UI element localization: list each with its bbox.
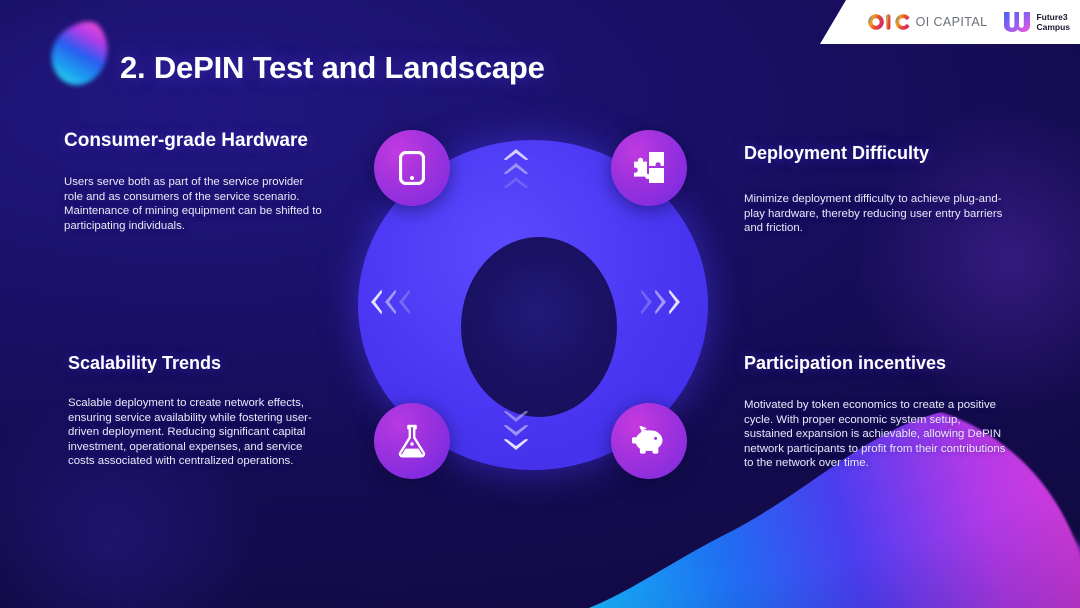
oic-capital-wordmark: OI CAPITAL	[916, 15, 988, 29]
block-heading: Consumer-grade Hardware	[64, 129, 322, 153]
future3-campus-logo: Future3 Campus	[1003, 11, 1070, 33]
diagram-node-scalability-trends[interactable]	[374, 403, 450, 479]
block-body: Minimize deployment difficulty to achiev…	[744, 192, 1006, 236]
future3-line2: Campus	[1036, 22, 1070, 32]
smartphone-icon	[399, 151, 425, 185]
chevron-up-icon	[502, 148, 530, 189]
future3-mark-icon	[1003, 11, 1031, 33]
block-heading: Deployment Difficulty	[744, 142, 1006, 164]
page-title: 2. DePIN Test and Landscape	[120, 50, 545, 86]
diagram-node-deployment-difficulty[interactable]	[611, 130, 687, 206]
block-deployment-difficulty: Deployment Difficulty Minimize deploymen…	[744, 142, 1006, 236]
cycle-ring-center	[461, 237, 617, 417]
diagram-node-consumer-grade-hardware[interactable]	[374, 130, 450, 206]
chevron-down-icon	[502, 410, 530, 451]
flask-icon	[396, 424, 428, 458]
block-body: Scalable deployment to create network ef…	[68, 396, 324, 469]
puzzle-icon	[632, 151, 666, 185]
block-scalability-trends: Scalability Trends Scalable deployment t…	[68, 352, 324, 469]
oic-capital-logo: OI CAPITAL	[867, 13, 988, 31]
block-heading: Participation incentives	[744, 352, 1006, 374]
brand-banner: OI CAPITAL Future3 Campus	[820, 0, 1080, 44]
chevron-left-icon	[370, 288, 411, 316]
chevron-right-icon	[640, 288, 681, 316]
block-body: Motivated by token economics to create a…	[744, 398, 1006, 471]
block-body: Users serve both as part of the service …	[64, 175, 322, 233]
droplet-logo-icon	[42, 18, 120, 104]
block-participation-incentives: Participation incentives Motivated by to…	[744, 352, 1006, 471]
future3-line1: Future3	[1036, 12, 1070, 22]
piggy-bank-icon	[630, 426, 668, 456]
block-heading: Scalability Trends	[68, 352, 324, 374]
oic-mark-icon	[867, 13, 911, 31]
diagram-node-participation-incentives[interactable]	[611, 403, 687, 479]
cycle-diagram	[352, 118, 712, 490]
block-consumer-grade-hardware: Consumer-grade Hardware Users serve both…	[64, 129, 322, 233]
